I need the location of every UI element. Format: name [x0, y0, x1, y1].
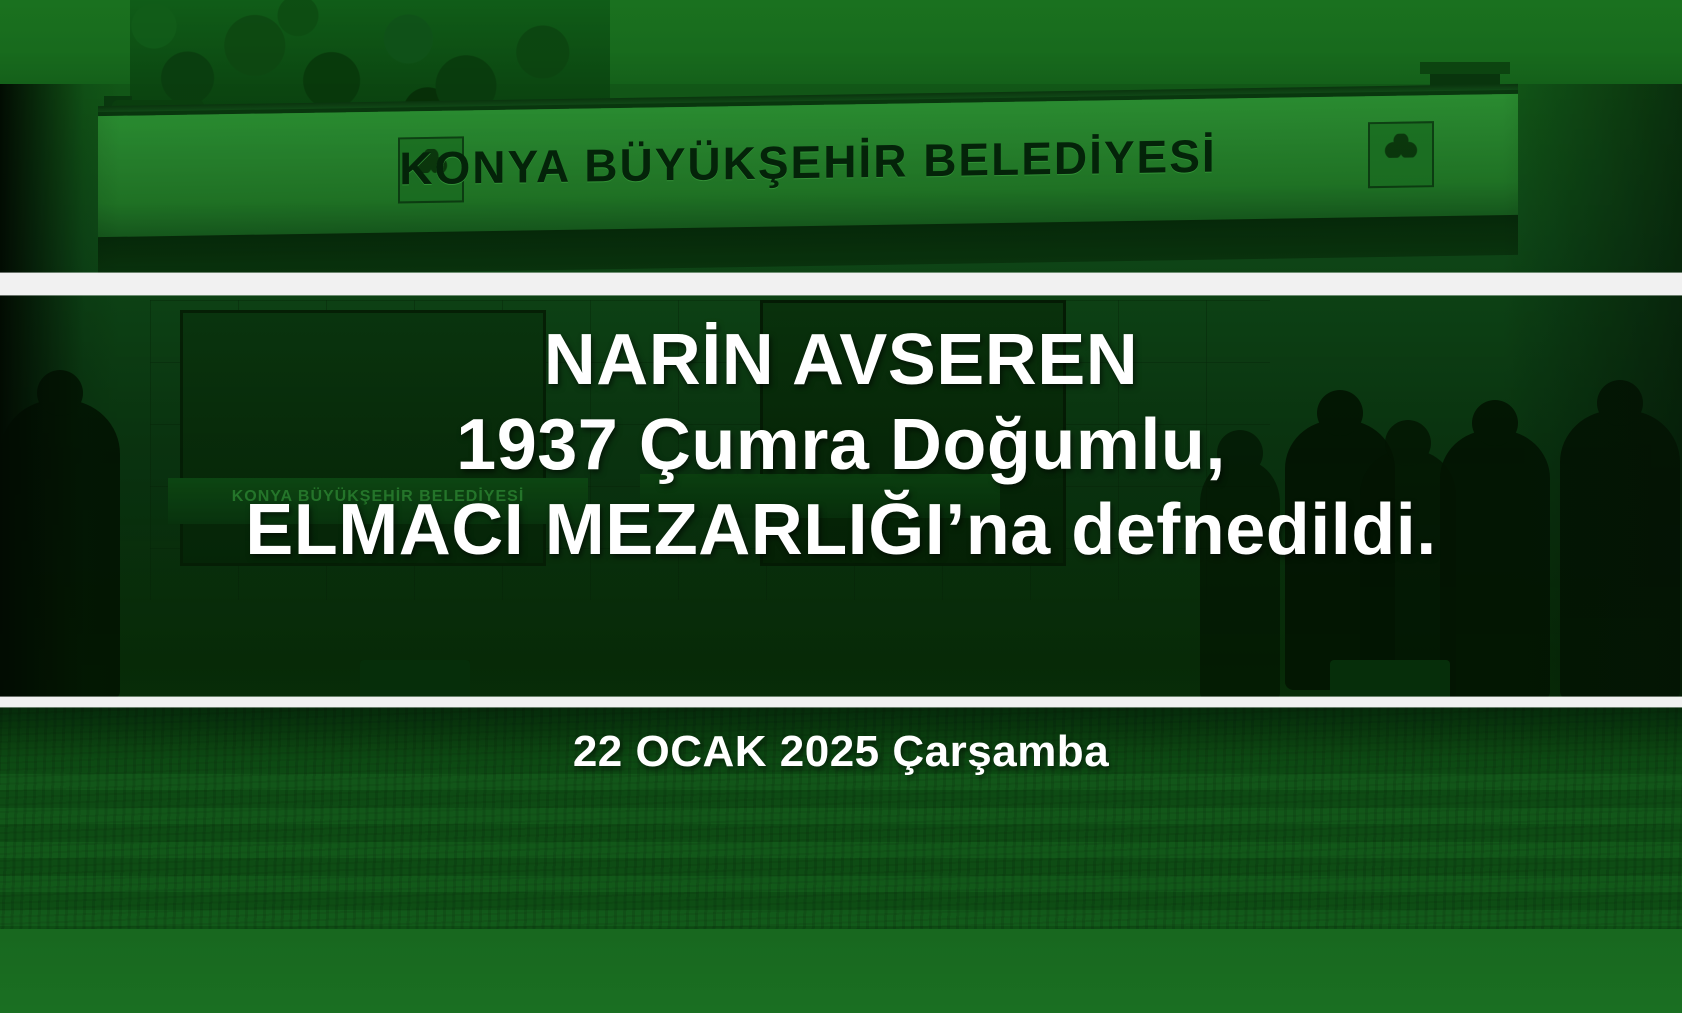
headline-line-cemetery: ELMACI MEZARLIĞI’na defnedildi. [40, 488, 1642, 573]
headline-line-name: NARİN AVSEREN [40, 318, 1642, 403]
headline-line-birth: 1937 Çumra Doğumlu, [40, 403, 1642, 488]
divider-bar-top [0, 273, 1682, 295]
headline-block: NARİN AVSEREN 1937 Çumra Doğumlu, ELMACI… [0, 318, 1682, 573]
divider-bar-bottom [0, 697, 1682, 707]
obituary-poster: KONYA BÜYÜKŞEHİR BELEDİYESİ KONYA BÜYÜKŞ… [0, 0, 1682, 1013]
date-text: 22 OCAK 2025 Çarşamba [0, 727, 1682, 777]
